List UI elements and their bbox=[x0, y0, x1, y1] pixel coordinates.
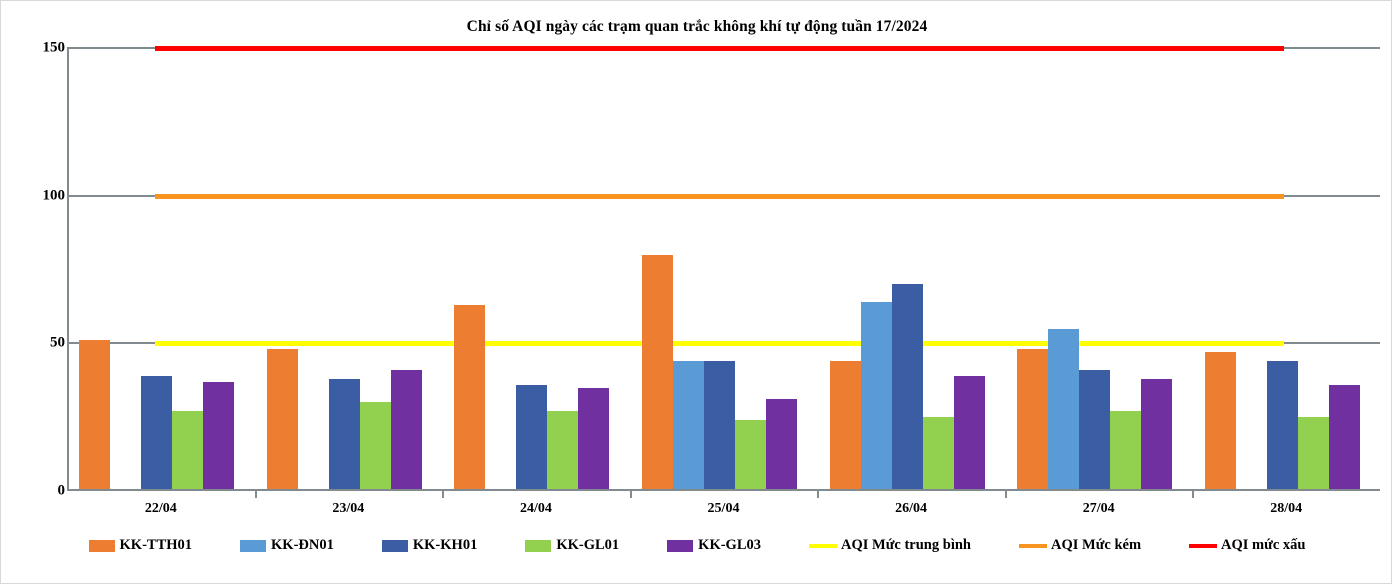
bar bbox=[547, 411, 578, 491]
legend-label: KK-GL01 bbox=[556, 537, 619, 554]
bar bbox=[673, 361, 704, 491]
reference-line bbox=[155, 46, 1284, 51]
chart-legend: KK-TTH01KK-ĐN01KK-KH01KK-GL01KK-GL03AQI … bbox=[1, 537, 1392, 554]
bar bbox=[704, 361, 735, 491]
x-tick-label: 23/04 bbox=[332, 501, 364, 517]
category-tick bbox=[817, 491, 819, 498]
category-tick bbox=[1005, 491, 1007, 498]
bar bbox=[954, 376, 985, 491]
bar bbox=[141, 376, 172, 491]
y-tick-label: 100 bbox=[9, 187, 65, 204]
reference-line bbox=[155, 194, 1284, 199]
y-tick-label: 50 bbox=[9, 335, 65, 352]
legend-label: AQI Mức trung bình bbox=[841, 537, 971, 554]
bar bbox=[861, 302, 892, 491]
bar bbox=[329, 379, 360, 491]
x-tick-label: 24/04 bbox=[520, 501, 552, 517]
bar bbox=[1048, 329, 1079, 491]
legend-item[interactable]: AQI Mức kém bbox=[1019, 537, 1141, 554]
legend-item[interactable]: KK-GL03 bbox=[667, 537, 761, 554]
legend-label: KK-TTH01 bbox=[120, 537, 193, 554]
bar bbox=[516, 385, 547, 491]
x-tick-label: 22/04 bbox=[145, 501, 177, 517]
bar bbox=[766, 399, 797, 491]
bar bbox=[391, 370, 422, 491]
bar bbox=[1205, 352, 1236, 491]
legend-label: KK-KH01 bbox=[413, 537, 477, 554]
bar bbox=[578, 388, 609, 491]
legend-swatch-icon bbox=[525, 540, 551, 552]
bar bbox=[360, 402, 391, 491]
plot-area bbox=[67, 48, 1380, 491]
legend-line-icon bbox=[1189, 544, 1217, 548]
legend-label: AQI Mức kém bbox=[1051, 537, 1141, 554]
bar bbox=[1298, 417, 1329, 491]
bar bbox=[1329, 385, 1360, 491]
y-tick-label: 150 bbox=[9, 40, 65, 57]
legend-item[interactable]: AQI mức xấu bbox=[1189, 537, 1305, 554]
x-tick-label: 25/04 bbox=[708, 501, 740, 517]
category-tick bbox=[630, 491, 632, 498]
legend-line-icon bbox=[1019, 544, 1047, 548]
category-tick bbox=[442, 491, 444, 498]
bar bbox=[923, 417, 954, 491]
bar bbox=[454, 305, 485, 491]
legend-label: AQI mức xấu bbox=[1221, 537, 1305, 554]
page-title: Chỉ số AQI ngày các trạm quan trắc không… bbox=[1, 18, 1392, 36]
legend-label: KK-GL03 bbox=[698, 537, 761, 554]
category-tick bbox=[1192, 491, 1194, 498]
x-axis-baseline bbox=[67, 489, 1380, 491]
bar bbox=[1079, 370, 1110, 491]
legend-swatch-icon bbox=[89, 540, 115, 552]
legend-item[interactable]: AQI Mức trung bình bbox=[809, 537, 971, 554]
category-tick bbox=[255, 491, 257, 498]
bar bbox=[172, 411, 203, 491]
bar bbox=[203, 382, 234, 491]
legend-line-icon bbox=[809, 544, 837, 548]
legend-swatch-icon bbox=[667, 540, 693, 552]
bar bbox=[1267, 361, 1298, 491]
legend-item[interactable]: KK-GL01 bbox=[525, 537, 619, 554]
x-tick-label: 27/04 bbox=[1083, 501, 1115, 517]
legend-item[interactable]: KK-KH01 bbox=[382, 537, 477, 554]
reference-line bbox=[155, 341, 1284, 346]
bar bbox=[830, 361, 861, 491]
bar bbox=[267, 349, 298, 491]
bar bbox=[1141, 379, 1172, 491]
bar bbox=[892, 284, 923, 491]
legend-label: KK-ĐN01 bbox=[271, 537, 334, 554]
bar bbox=[642, 255, 673, 491]
x-tick-label: 28/04 bbox=[1270, 501, 1302, 517]
aqi-weekly-bar-chart: Chỉ số AQI ngày các trạm quan trắc không… bbox=[0, 0, 1392, 584]
bar bbox=[735, 420, 766, 491]
x-tick-label: 26/04 bbox=[895, 501, 927, 517]
bar bbox=[1110, 411, 1141, 491]
y-tick-label: 0 bbox=[9, 483, 65, 500]
legend-swatch-icon bbox=[240, 540, 266, 552]
legend-item[interactable]: KK-ĐN01 bbox=[240, 537, 334, 554]
bar bbox=[1017, 349, 1048, 491]
legend-item[interactable]: KK-TTH01 bbox=[89, 537, 193, 554]
legend-swatch-icon bbox=[382, 540, 408, 552]
bar bbox=[79, 340, 110, 491]
